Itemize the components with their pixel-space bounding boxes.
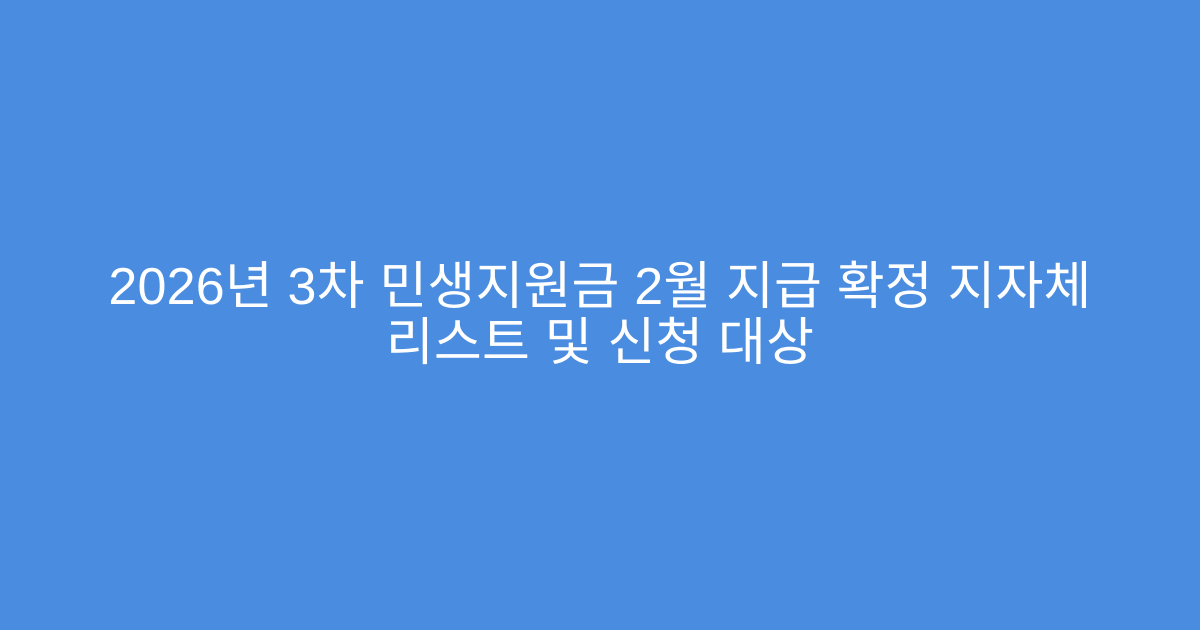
page-title: 2026년 3차 민생지원금 2월 지급 확정 지자체 리스트 및 신청 대상 [103, 259, 1097, 371]
og-thumbnail-card: 2026년 3차 민생지원금 2월 지급 확정 지자체 리스트 및 신청 대상 [0, 0, 1200, 630]
title-block: 2026년 3차 민생지원금 2월 지급 확정 지자체 리스트 및 신청 대상 [95, 259, 1105, 371]
